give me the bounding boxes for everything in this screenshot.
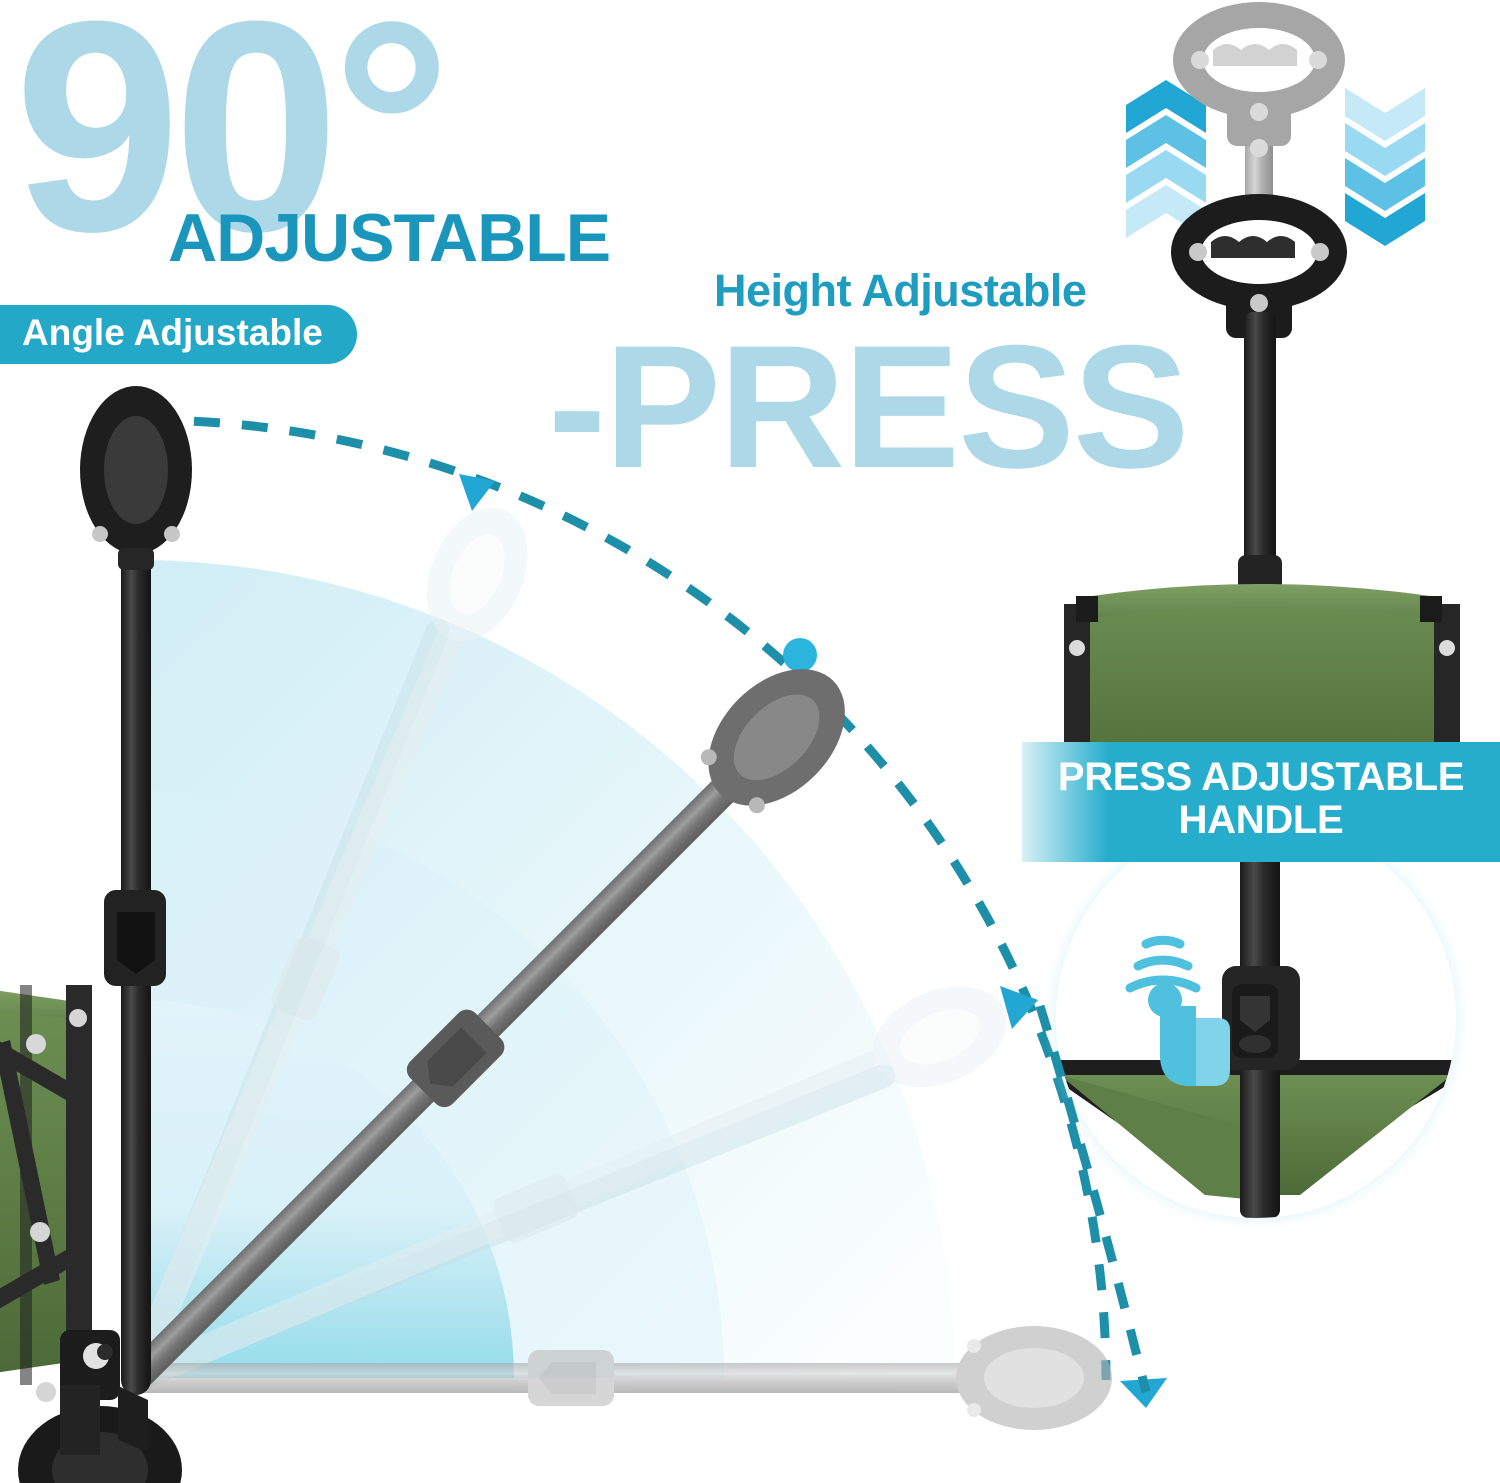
chevrons-down-icon — [1345, 88, 1425, 246]
eyebrow-height-adjustable: Height Adjustable — [714, 268, 1086, 313]
handle-raised-ghost — [1173, 0, 1345, 157]
headline-adjustable: ADJUSTABLE — [168, 204, 610, 272]
callout-line-1: PRESS ADJUSTABLE — [1022, 756, 1500, 799]
arc-dot-marker — [783, 638, 817, 672]
callout-line-2: HANDLE — [1022, 799, 1500, 842]
angle-adjustable-pill: Angle Adjustable — [0, 305, 357, 364]
press-adjustable-handle-callout: PRESS ADJUSTABLE HANDLE — [1022, 742, 1500, 862]
infographic-canvas: 90° -PRESS — [0, 0, 1500, 1483]
press-button-detail-circle — [1056, 818, 1456, 1218]
